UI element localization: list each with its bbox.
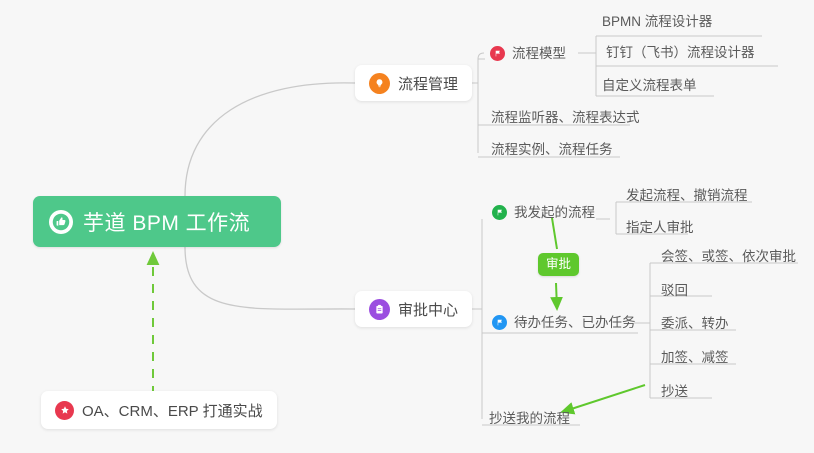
node-label: 驳回 (661, 283, 688, 298)
footer-node-integration[interactable]: OA、CRM、ERP 打通实战 (41, 391, 277, 429)
node-label: 会签、或签、依次审批 (661, 249, 796, 264)
node-label: BPMN 流程设计器 (602, 14, 712, 29)
node-label: 流程监听器、流程表达式 (491, 110, 640, 125)
node-label: 流程模型 (512, 47, 566, 61)
node-bpmn-designer[interactable]: BPMN 流程设计器 (602, 15, 712, 29)
node-process-instance[interactable]: 流程实例、流程任务 (491, 143, 613, 157)
node-label: 委派、转办 (661, 316, 729, 331)
thumbs-up-icon (49, 210, 73, 234)
node-reject[interactable]: 驳回 (661, 284, 688, 298)
node-label: 抄送我的流程 (489, 411, 570, 426)
node-cc[interactable]: 抄送 (661, 385, 688, 399)
approve-annotation-badge: 审批 (538, 253, 579, 276)
node-countersign[interactable]: 会签、或签、依次审批 (661, 250, 796, 264)
root-node[interactable]: 芋道 BPM 工作流 (33, 196, 281, 247)
node-label: 待办任务、已办任务 (514, 316, 636, 330)
footer-node-label: OA、CRM、ERP 打通实战 (82, 400, 263, 421)
branch-node-process-management[interactable]: 流程管理 (355, 65, 472, 101)
node-label: 发起流程、撤销流程 (626, 188, 748, 203)
flag-icon (492, 315, 507, 330)
branch-label: 流程管理 (398, 73, 458, 94)
mindmap-canvas: 芋道 BPM 工作流 流程管理 流程模型 BPMN 流程设计器 钉钉（飞书）流程… (0, 0, 814, 453)
node-label: 我发起的流程 (514, 206, 595, 220)
star-icon (55, 401, 74, 420)
node-cc-to-me[interactable]: 抄送我的流程 (489, 412, 570, 426)
node-custom-form[interactable]: 自定义流程表单 (602, 79, 697, 93)
node-my-initiated-process[interactable]: 我发起的流程 (492, 205, 595, 220)
node-label: 抄送 (661, 384, 688, 399)
badge-label: 审批 (546, 257, 571, 271)
node-process-model[interactable]: 流程模型 (490, 46, 566, 61)
node-label: 自定义流程表单 (602, 78, 697, 93)
node-dingtalk-designer[interactable]: 钉钉（飞书）流程设计器 (606, 46, 755, 60)
node-label: 钉钉（飞书）流程设计器 (606, 45, 755, 60)
node-process-listener[interactable]: 流程监听器、流程表达式 (491, 111, 640, 125)
node-assigned-approver[interactable]: 指定人审批 (626, 221, 694, 235)
node-label: 指定人审批 (626, 220, 694, 235)
node-todo-done-tasks[interactable]: 待办任务、已办任务 (492, 315, 636, 330)
clipboard-icon (369, 299, 390, 320)
branch-node-approval-center[interactable]: 审批中心 (355, 291, 472, 327)
node-add-remove-sign[interactable]: 加签、减签 (661, 351, 729, 365)
branch-label: 审批中心 (398, 299, 458, 320)
root-label: 芋道 BPM 工作流 (83, 207, 250, 237)
flag-icon (492, 205, 507, 220)
node-start-cancel-process[interactable]: 发起流程、撤销流程 (626, 189, 748, 203)
node-label: 流程实例、流程任务 (491, 142, 613, 157)
node-label: 加签、减签 (661, 350, 729, 365)
lightbulb-icon (369, 73, 390, 94)
node-delegate-transfer[interactable]: 委派、转办 (661, 317, 729, 331)
flag-icon (490, 46, 505, 61)
